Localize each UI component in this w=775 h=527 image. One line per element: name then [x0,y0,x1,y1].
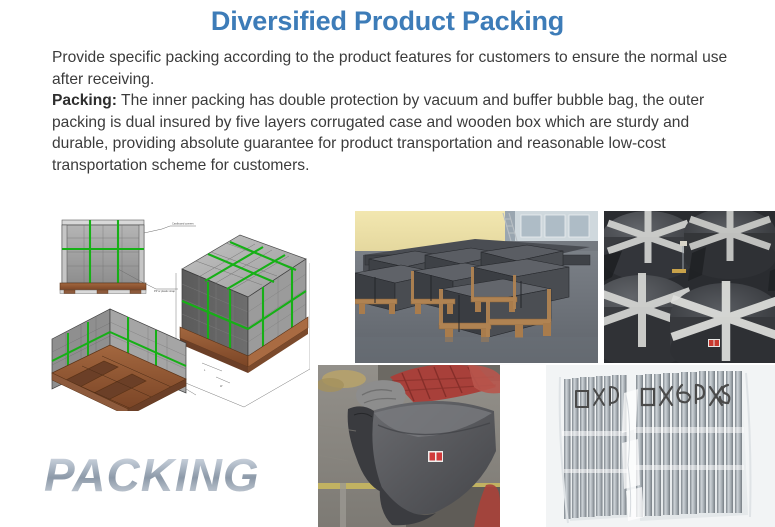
media-area: Cardboard corners PP or plastic strap [0,205,775,527]
packing-cad-drawing: Cardboard corners PP or plastic strap [44,211,310,411]
cad-view-front-elevation: Cardboard corners PP or plastic strap [60,220,196,294]
rod-bundle-right [634,371,748,521]
paragraph-packing: Packing: The inner packing has double pr… [52,90,742,176]
rod-bundle-left [562,375,632,521]
packing-label: Packing: [52,92,117,109]
cad-callout-cardboard: Cardboard corners [172,222,194,226]
photo-warehouse-pallets [355,211,598,363]
paragraph-intro: Provide specific packing according to th… [52,47,742,90]
cad-callout-strap: PP or plastic strap [154,289,176,293]
cad-dimension-a: L [204,369,206,372]
cad-view-isometric-main: L W [176,235,310,407]
packing-wordmark: PACKING [44,448,260,502]
photo-round-blocks-strapped [604,211,775,363]
photo-worker-wrapping-block [318,365,500,527]
package-label [428,451,443,462]
cad-view-isometric-pallet [52,309,196,411]
page-title: Diversified Product Packing [0,6,775,37]
cad-dimension-b: W [220,385,223,388]
photo-rods-in-bags [546,365,775,527]
packing-detail: The inner packing has double protection … [52,92,704,174]
package-label [708,339,720,347]
body-copy: Provide specific packing according to th… [52,47,742,176]
